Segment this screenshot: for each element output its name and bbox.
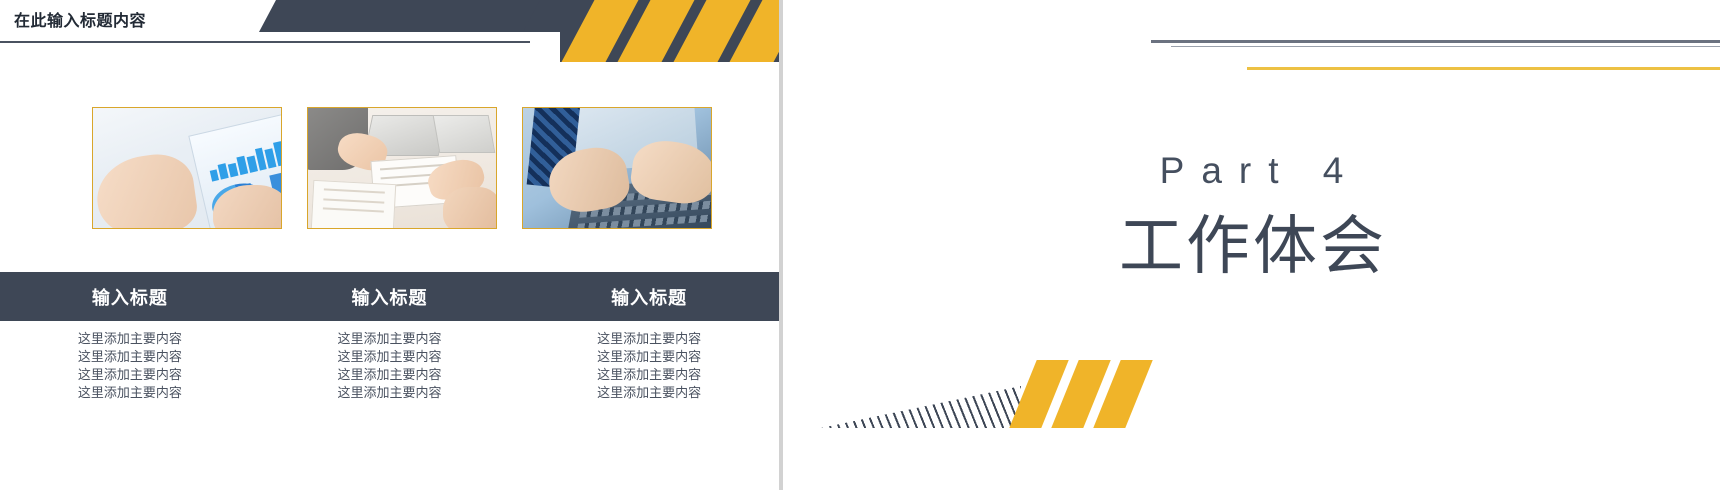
decor-line-yellow <box>1247 67 1720 70</box>
column-body-row: 这里添加主要内容 这里添加主要内容 这里添加主要内容 这里添加主要内容 这里添加… <box>0 330 779 402</box>
bottom-decoration <box>783 360 1720 490</box>
body-line: 这里添加主要内容 <box>338 348 442 366</box>
photo-row <box>92 107 712 229</box>
left-content-panel: 在此输入标题内容 <box>0 0 779 490</box>
body-line: 这里添加主要内容 <box>597 384 701 402</box>
column-title-bar: 输入标题 输入标题 输入标题 <box>0 272 779 321</box>
column-title-3: 输入标题 <box>519 272 779 321</box>
paper-sheet <box>310 180 395 229</box>
hand-shape-c <box>443 187 497 229</box>
column-body-1: 这里添加主要内容 这里添加主要内容 这里添加主要内容 这里添加主要内容 <box>0 330 260 402</box>
photo-card-1[interactable] <box>92 107 282 229</box>
body-line: 这里添加主要内容 <box>597 348 701 366</box>
body-line: 这里添加主要内容 <box>78 330 182 348</box>
right-section-panel: Part 4 工作体会 <box>783 0 1720 490</box>
body-line: 这里添加主要内容 <box>78 348 182 366</box>
laptop-right <box>432 115 495 153</box>
column-title-1: 输入标题 <box>0 272 260 321</box>
column-body-2: 这里添加主要内容 这里添加主要内容 这里添加主要内容 这里添加主要内容 <box>260 330 520 402</box>
header-white-mask <box>0 32 560 62</box>
part-label: Part 4 <box>783 150 1720 192</box>
typing-keyboard-photo <box>523 108 711 228</box>
column-body-3: 这里添加主要内容 这里添加主要内容 这里添加主要内容 这里添加主要内容 <box>519 330 779 402</box>
bar-chart-row-1 <box>205 123 282 181</box>
meeting-documents-photo <box>308 108 496 228</box>
body-line: 这里添加主要内容 <box>597 330 701 348</box>
body-line: 这里添加主要内容 <box>338 366 442 384</box>
column-title-2: 输入标题 <box>260 272 520 321</box>
body-line: 这里添加主要内容 <box>78 384 182 402</box>
part-title: 工作体会 <box>783 195 1720 287</box>
body-line: 这里添加主要内容 <box>338 330 442 348</box>
page-title: 在此输入标题内容 <box>14 7 146 31</box>
header-underline-rule <box>0 41 530 43</box>
photo-card-2[interactable] <box>307 107 497 229</box>
decor-line-gray-top <box>1151 40 1720 43</box>
slide-root: 在此输入标题内容 <box>0 0 1720 490</box>
photo-card-3[interactable] <box>522 107 712 229</box>
body-line: 这里添加主要内容 <box>78 366 182 384</box>
hand-shape <box>92 150 200 229</box>
body-line: 这里添加主要内容 <box>338 384 442 402</box>
hatch-triangle-decoration <box>821 386 1021 428</box>
body-line: 这里添加主要内容 <box>597 366 701 384</box>
tablet-bar-chart-photo <box>93 108 281 228</box>
decor-line-gray-thin <box>1171 46 1720 47</box>
